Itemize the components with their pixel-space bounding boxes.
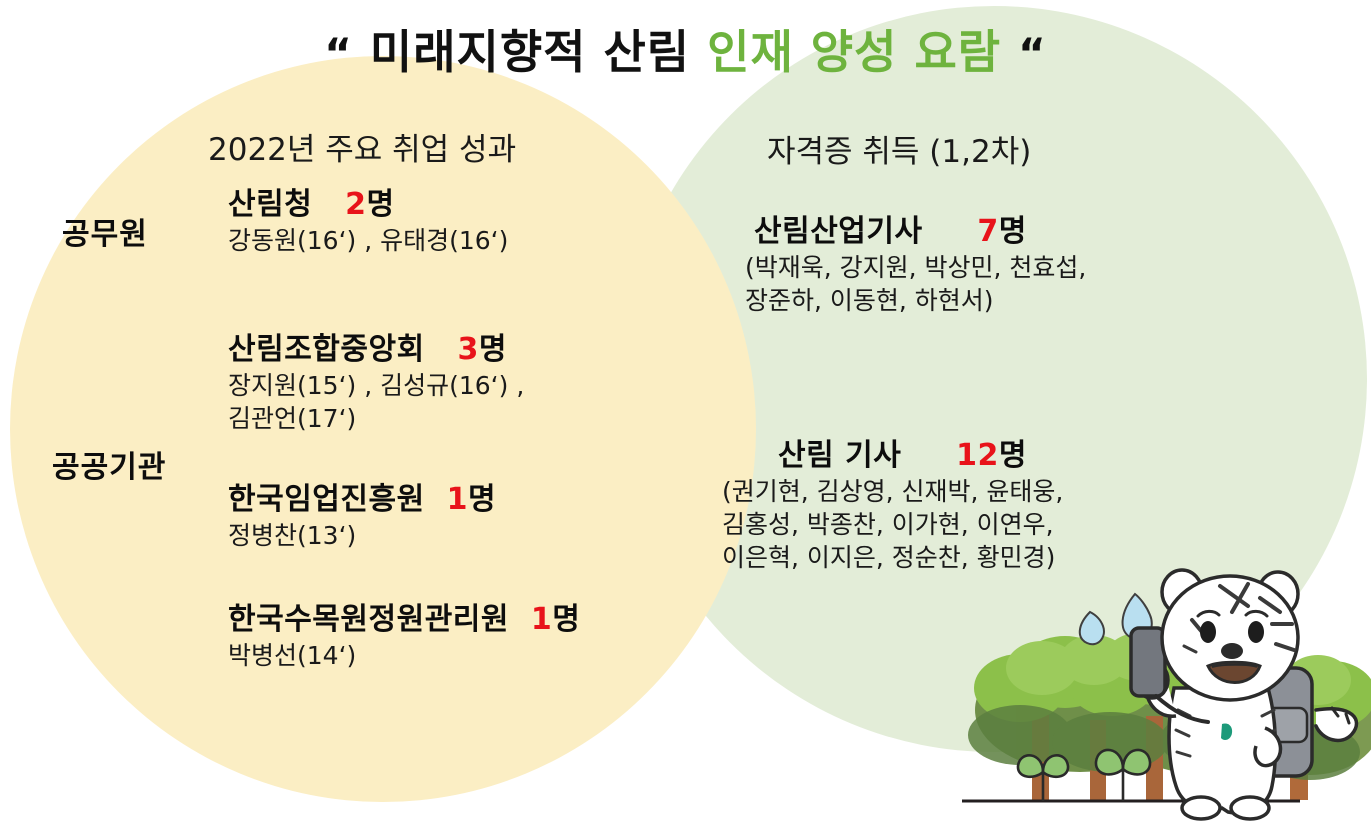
employment-entry-org: 산림조합중앙회 — [228, 332, 425, 367]
employment-entry: 산림조합중앙회 3명 장지원(15‘) , 김성규(16‘) , 김관언(17‘… — [228, 331, 524, 435]
employment-entry-title: 한국임업진흥원 1명 — [228, 481, 496, 519]
title-green-text: 인재 양성 요람 — [707, 25, 1001, 79]
employment-entry-unit: 명 — [479, 332, 507, 367]
employment-entry-unit: 명 — [367, 187, 395, 222]
certification-entry-count: 7 — [977, 214, 998, 249]
infographic-canvas: “ 미래지향적 산림 인재 양성 요람 “ 2022년 주요 취업 성과 자격증… — [0, 0, 1371, 824]
employment-entry: 산림청 2명 강동원(16‘) , 유태경(16‘) — [228, 186, 508, 257]
employment-entry-unit: 명 — [552, 602, 580, 637]
employment-entry-count: 3 — [458, 332, 479, 367]
employment-entry-org: 산림청 — [228, 187, 312, 222]
employment-entry-names: 장지원(15‘) , 김성규(16‘) , 김관언(17‘) — [228, 369, 524, 435]
white-tiger-mascot-illustration — [960, 520, 1371, 824]
page-title: “ 미래지향적 산림 인재 양성 요람 “ — [0, 24, 1371, 82]
employment-entry-names: 정병찬(13‘) — [228, 519, 496, 552]
employment-entry-org: 한국임업진흥원 — [228, 482, 425, 517]
certification-entry: 산림산업기사 7명 (박재욱, 강지원, 박상민, 천효섭, 장준하, 이동현,… — [745, 213, 1086, 317]
employment-entry-count: 2 — [345, 187, 366, 222]
employment-section-heading: 2022년 주요 취업 성과 — [208, 124, 516, 169]
title-dark-text: 미래지향적 산림 — [370, 25, 690, 79]
employment-entry-count: 1 — [531, 602, 552, 637]
employment-entry-title: 산림청 2명 — [228, 186, 508, 224]
tiger-tail-icon — [1316, 708, 1357, 740]
certification-section-heading: 자격증 취득 (1,2차) — [767, 126, 1031, 171]
certification-entry-unit: 명 — [999, 438, 1027, 473]
title-close-quote: “ — [1018, 29, 1047, 78]
certification-entry-name: 산림산업기사 — [754, 214, 923, 249]
certification-entry-title: 산림 기사 12명 — [778, 437, 1063, 475]
water-droplet-icon — [1080, 612, 1104, 644]
certification-entry-names: (박재욱, 강지원, 박상민, 천효섭, 장준하, 이동현, 하현서) — [745, 251, 1086, 317]
employment-entry-org: 한국수목원정원관리원 — [228, 602, 509, 637]
title-open-quote: “ — [324, 29, 353, 78]
certification-entry-name: 산림 기사 — [778, 438, 901, 473]
employment-entry: 한국수목원정원관리원 1명 박병선(14‘) — [228, 601, 580, 672]
category-label-public-institution: 공공기관 — [52, 442, 166, 486]
employment-entry-names: 강동원(16‘) , 유태경(16‘) — [228, 224, 508, 257]
employment-entry-unit: 명 — [468, 482, 496, 517]
employment-entry-title: 한국수목원정원관리원 1명 — [228, 601, 580, 639]
employment-entry-names: 박병선(14‘) — [228, 639, 580, 672]
tiger-head-icon — [1162, 570, 1298, 700]
certification-entry-unit: 명 — [999, 214, 1027, 249]
employment-entry-title: 산림조합중앙회 3명 — [228, 331, 524, 369]
employment-entry: 한국임업진흥원 1명 정병찬(13‘) — [228, 481, 496, 552]
certification-entry-title: 산림산업기사 7명 — [754, 213, 1086, 251]
category-label-public-official: 공무원 — [62, 209, 148, 253]
employment-entry-count: 1 — [447, 482, 468, 517]
certification-entry-count: 12 — [956, 438, 999, 473]
